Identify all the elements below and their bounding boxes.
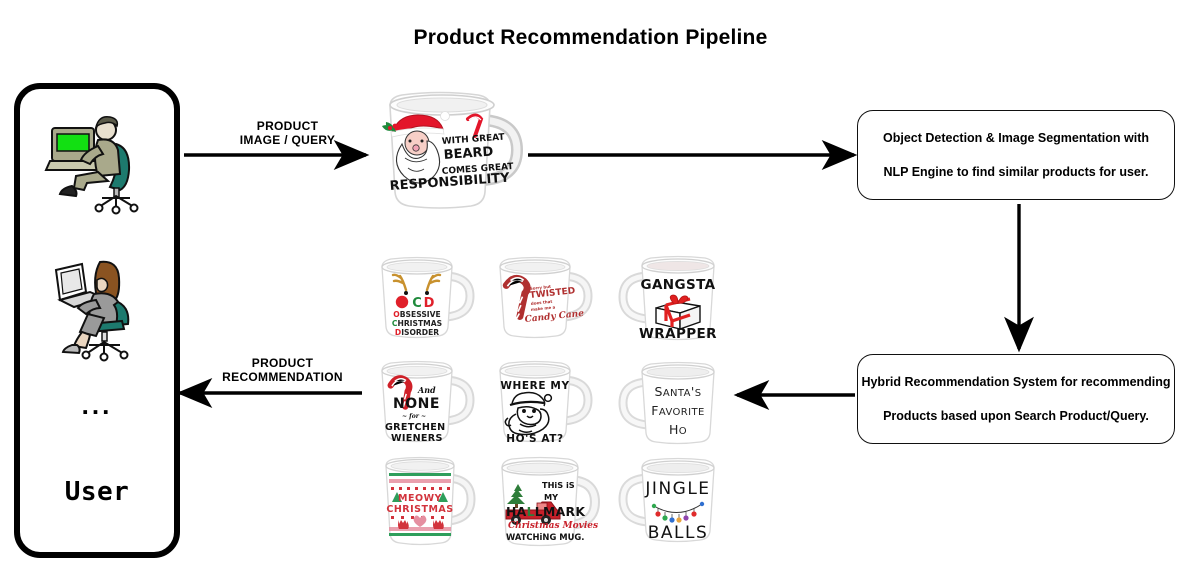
user-list-ellipsis: ... <box>14 392 180 418</box>
process-box-hybrid-recommendation: Hybrid Recommendation System for recomme… <box>857 354 1175 444</box>
arrow-label-product-image-query: PRODUCT IMAGE / QUERY <box>190 119 385 147</box>
svg-text:MEOWY: MEOWY <box>398 493 442 504</box>
svg-text:And: And <box>417 385 436 395</box>
arrow-label-product-recommendation: PRODUCT RECOMMENDATION <box>180 356 385 384</box>
svg-text:JINGLE: JINGLE <box>644 479 710 499</box>
recommended-mug-5: WHERE MY HO'S AT? <box>490 358 596 450</box>
recommended-mug-7: MEOWY CHRISTMAS <box>372 454 478 552</box>
arrow-label-line1: PRODUCT <box>180 356 385 370</box>
box-detection-line1: Object Detection & Image Segmentation wi… <box>883 132 1149 145</box>
svg-text:CHRISTMAS: CHRISTMAS <box>392 319 442 328</box>
svg-text:DISORDER: DISORDER <box>395 328 439 337</box>
process-box-object-detection: Object Detection & Image Segmentation wi… <box>857 110 1175 200</box>
svg-text:BALLS: BALLS <box>648 523 709 543</box>
recommended-mug-9: JINGLE BALLS <box>610 454 722 550</box>
recommended-mug-3: GANGSTA WRAPPER <box>610 252 722 348</box>
svg-text:D: D <box>424 296 435 311</box>
woman-with-laptop-icon <box>44 250 154 362</box>
recommended-mug-2: Sorry but TWISTED does that make me a Ca… <box>490 254 596 346</box>
query-product-mug: WITH GREAT BEARD COMES GREAT RESPONSIBIL… <box>372 86 528 218</box>
svg-text:GANGSTA: GANGSTA <box>640 277 715 293</box>
svg-text:THiS iS: THiS iS <box>542 480 575 490</box>
page-title: Product Recommendation Pipeline <box>0 26 1181 50</box>
arrow-label-line2: IMAGE / QUERY <box>190 133 385 147</box>
svg-text:WHERE MY: WHERE MY <box>500 380 569 392</box>
svg-text:CHRISTMAS: CHRISTMAS <box>386 504 453 515</box>
recommended-mug-8: THiS iS MY HALLMARK Christmas Movies WAT… <box>490 454 602 554</box>
arrow-label-line1: PRODUCT <box>190 119 385 133</box>
svg-text:HALLMARK: HALLMARK <box>506 504 585 519</box>
recommended-mug-1: C D OBSESSIVE CHRISTMAS DISORDER <box>372 254 478 346</box>
box-detection-line2: NLP Engine to find similar products for … <box>883 166 1148 179</box>
svg-text:NONE: NONE <box>393 396 440 412</box>
recommended-mug-6: SANTA'S FAVORITE HO <box>610 358 722 452</box>
svg-text:C: C <box>412 296 422 311</box>
svg-text:Christmas Movies: Christmas Movies <box>508 521 598 531</box>
box-hybrid-line1: Hybrid Recommendation System for recomme… <box>861 376 1170 389</box>
svg-text:MY: MY <box>544 492 559 502</box>
svg-text:~ for ~: ~ for ~ <box>402 413 426 420</box>
svg-text:WATCHiNG MUG.: WATCHiNG MUG. <box>506 532 584 542</box>
svg-text:OBSESSIVE: OBSESSIVE <box>393 310 440 319</box>
user-panel-label: User <box>14 477 180 507</box>
recommended-mug-4: And NONE ~ for ~ GRETCHEN WIENERS <box>372 358 478 450</box>
svg-text:WIENERS: WIENERS <box>391 433 443 444</box>
box-hybrid-line2: Products based upon Search Product/Query… <box>883 410 1149 423</box>
svg-text:GRETCHEN: GRETCHEN <box>385 422 445 433</box>
person-at-desktop-computer-icon <box>44 110 154 215</box>
svg-text:HO'S AT?: HO'S AT? <box>506 433 564 445</box>
arrow-label-line2: RECOMMENDATION <box>180 370 385 384</box>
